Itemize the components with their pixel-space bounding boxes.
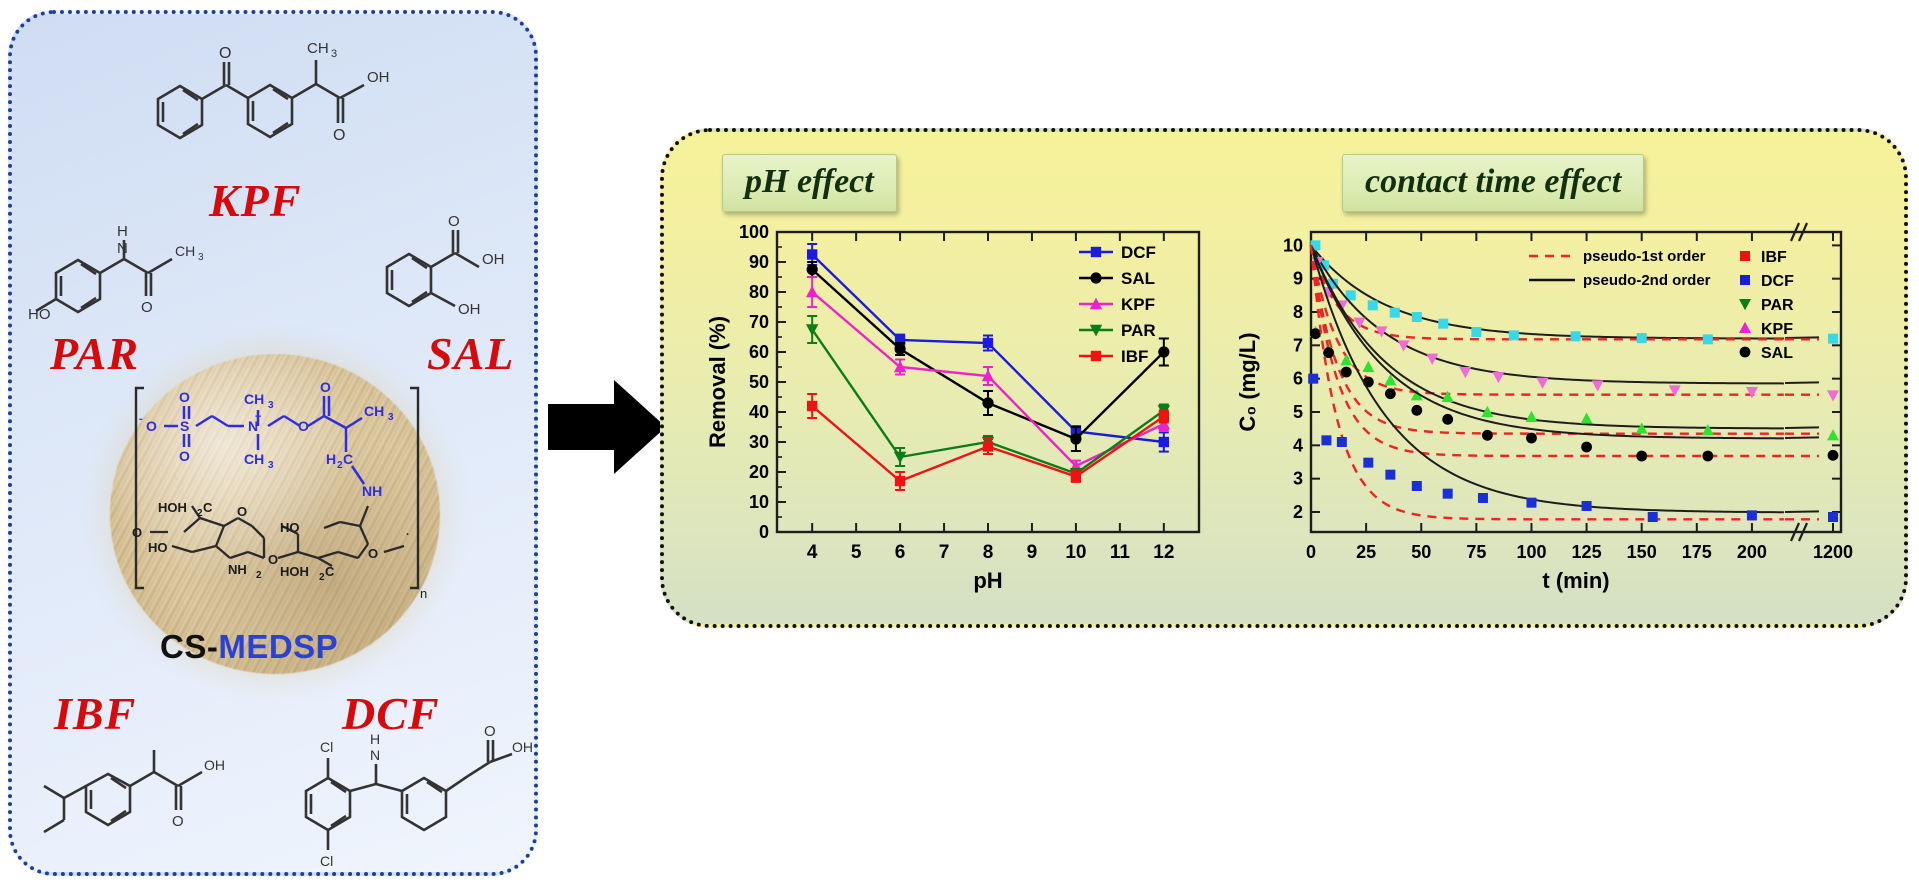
data-point-kpf: [1746, 387, 1758, 398]
data-point-ibf: [1368, 300, 1378, 310]
data-point-ibf: [1571, 331, 1581, 341]
legend-label-kpf: KPF: [1761, 321, 1793, 338]
atom-label: N: [117, 240, 128, 257]
x-tick-label: 11: [1110, 542, 1131, 563]
x-tick-label: 50: [1411, 542, 1431, 562]
ph-effect-badge: pH effect: [722, 154, 897, 212]
legend-label-kpf: KPF: [1121, 295, 1155, 314]
data-point-sal: [807, 264, 818, 275]
atom-label: O: [448, 213, 460, 230]
data-point-kpf: [1459, 367, 1471, 378]
pseudo-1st-order-fit: [1311, 245, 1784, 456]
data-point-dcf: [1747, 510, 1757, 520]
data-point-par: [1362, 361, 1374, 372]
data-point-sal: [1411, 405, 1422, 416]
graphical-abstract: O CH 3 OH O KPF H N CH 3: [0, 0, 1919, 886]
y-tick-label: 90: [749, 252, 769, 272]
data-point-sal: [894, 343, 905, 354]
data-point-kpf: [1827, 390, 1839, 401]
data-point-ibf: [1390, 308, 1400, 318]
atom-label: Cl: [320, 739, 333, 755]
data-point-sal: [1158, 346, 1169, 357]
series-par: [1309, 245, 1839, 440]
atom-label: OH: [512, 739, 533, 755]
atom-label: 2: [256, 570, 262, 581]
legend-label-par: PAR: [1761, 297, 1794, 314]
adsorbent-label-medsp: MEDSP: [218, 628, 338, 665]
pseudo-2nd-order-fit-tail: [1785, 382, 1819, 383]
data-point-ibf: [1159, 411, 1169, 421]
legend-marker-par: [1739, 299, 1751, 310]
legend-marker-sal: [1740, 347, 1751, 358]
legend-label-sal: SAL: [1761, 345, 1793, 362]
series-ibf: [1310, 240, 1838, 344]
results-panel: pH effect contact time effect 0102030405…: [660, 128, 1908, 628]
data-point-kpf: [1492, 372, 1504, 383]
bond-dot: ·: [406, 529, 410, 541]
atom-label: H: [326, 451, 336, 467]
data-point-par: [894, 452, 906, 464]
charge-label: +: [255, 411, 261, 423]
legend-label-dcf: DCF: [1761, 273, 1794, 290]
atom-label: 3: [331, 48, 337, 60]
legend-label-ibf: IBF: [1121, 347, 1148, 366]
atom-label: 3: [268, 460, 274, 471]
atom-label: C: [343, 451, 353, 467]
data-point-sal: [1526, 433, 1537, 444]
y-tick-label: 6: [1293, 369, 1303, 389]
data-point-sal: [1482, 430, 1493, 441]
atom-label: CH: [244, 451, 264, 467]
pseudo-2nd-order-fit-tail: [1785, 427, 1819, 428]
pseudo-2nd-order-fit-tail: [1785, 437, 1819, 438]
molecule-label-ibf: IBF: [54, 687, 136, 740]
x-tick-label: 12: [1153, 542, 1174, 563]
legend-label-dcf: DCF: [1121, 243, 1156, 262]
series-sal: [807, 262, 1170, 451]
atom-label: OH: [458, 301, 481, 318]
atom-label-n: n: [420, 586, 427, 601]
legend-marker-dcf: [1091, 247, 1101, 257]
x-tick-label: 6: [895, 542, 906, 563]
atom-label: HOH: [158, 500, 187, 515]
x-tick-label: 150: [1627, 542, 1657, 562]
x-tick-label: 75: [1466, 542, 1486, 562]
contact-chart-legend: pseudo-1st orderpseudo-2nd orderIBFDCFPA…: [1529, 248, 1794, 362]
data-point-sal: [1442, 414, 1453, 425]
atom-label: O: [484, 723, 496, 740]
pseudo-2nd-order-fit: [1311, 245, 1784, 383]
data-point-dcf: [807, 249, 817, 259]
atom-label: O: [219, 45, 231, 62]
atom-label: S: [180, 418, 189, 434]
y-tick-label: 50: [749, 372, 769, 392]
atom-label: 3: [268, 400, 274, 411]
data-point-par: [1525, 411, 1537, 422]
kpf-structure: O CH 3 OH O: [142, 28, 432, 168]
data-point-par: [1827, 429, 1839, 440]
legend-marker-ibf: [1740, 251, 1750, 261]
atom-label: C: [325, 564, 335, 579]
data-point-sal: [1385, 388, 1396, 399]
y-axis-title: C₀ (mg/L): [1235, 332, 1260, 431]
y-axis-title: Removal (%): [705, 316, 730, 448]
data-point-par: [1702, 424, 1714, 435]
data-point-kpf: [806, 286, 818, 298]
adsorbent-and-pharmaceuticals-panel: O CH 3 OH O KPF H N CH 3: [8, 10, 538, 876]
data-point-dcf: [1582, 501, 1592, 511]
y-tick-label: 60: [749, 342, 769, 362]
data-point-sal: [1636, 451, 1647, 462]
atom-label: HOH: [280, 564, 309, 579]
data-point-dcf: [1385, 470, 1395, 480]
data-point-dcf: [1321, 435, 1331, 445]
data-point-dcf: [1828, 512, 1838, 522]
legend-fit-label: pseudo-2nd order: [1583, 272, 1711, 289]
data-point-dcf: [1308, 374, 1318, 384]
atom-label: 3: [198, 252, 204, 263]
y-tick-label: 100: [739, 222, 769, 242]
data-point-dcf: [1478, 493, 1488, 503]
data-point-sal: [1310, 328, 1321, 339]
atom-label: OH: [367, 69, 390, 86]
y-tick-label: 30: [749, 432, 769, 452]
data-point-par: [1442, 391, 1454, 402]
charge-label: -: [139, 413, 143, 425]
atom-label: O: [268, 552, 278, 567]
data-point-ibf: [807, 401, 817, 411]
atom-label: O: [368, 546, 378, 561]
y-tick-label: 4: [1293, 435, 1303, 455]
ph-effect-chart: 0102030405060708090100456789101112DCFSAL…: [699, 214, 1209, 604]
data-point-dcf: [1648, 512, 1658, 522]
x-tick-label: 9: [1027, 542, 1038, 563]
molecule-label-dcf: DCF: [342, 687, 440, 740]
x-tick-label: 10: [1065, 542, 1086, 563]
data-point-ibf: [1412, 312, 1422, 322]
atom-label: NH: [362, 483, 382, 499]
pseudo-1st-order-fit: [1311, 245, 1784, 339]
atom-label: OH: [204, 757, 225, 773]
legend-marker-kpf: [1739, 322, 1751, 333]
atom-label: H: [117, 223, 128, 240]
data-point-sal: [982, 397, 993, 408]
atom-label: C: [203, 500, 213, 515]
pseudo-2nd-order-fit: [1311, 245, 1784, 428]
y-tick-label: 7: [1293, 335, 1303, 355]
legend-label-sal: SAL: [1121, 269, 1155, 288]
atom-label: O: [320, 379, 331, 395]
data-point-sal: [1070, 433, 1081, 444]
y-tick-label: 0: [759, 522, 769, 542]
y-tick-label: 3: [1293, 469, 1303, 489]
data-point-ibf: [1438, 319, 1448, 329]
ph-chart-legend: DCFSALKPFPARIBF: [1079, 243, 1156, 366]
atom-label: CH: [175, 243, 195, 259]
data-point-dcf: [1159, 437, 1169, 447]
atom-label: O: [141, 299, 153, 316]
data-point-sal: [1581, 442, 1592, 453]
x-tick-label: 175: [1682, 542, 1712, 562]
series-dcf: [807, 244, 1169, 452]
y-tick-label: 20: [749, 462, 769, 482]
atom-label: O: [172, 813, 184, 830]
data-point-sal: [1828, 450, 1839, 461]
data-point-ibf: [1828, 334, 1838, 344]
y-tick-label: 2: [1293, 502, 1303, 522]
atom-label: O: [132, 525, 142, 540]
x-tick-label: 200: [1737, 542, 1767, 562]
atom-label: 3: [388, 412, 394, 423]
legend-marker-ibf: [1091, 351, 1101, 361]
x-tick-label: 125: [1572, 542, 1602, 562]
y-tick-label: 40: [749, 402, 769, 422]
data-point-dcf: [1337, 437, 1347, 447]
contact-time-plot-svg: 234567891002550751001251501752001200pseu…: [1229, 214, 1889, 604]
data-point-kpf: [1536, 378, 1548, 389]
legend-marker-dcf: [1740, 275, 1750, 285]
contact-time-effect-badge: contact time effect: [1342, 154, 1644, 212]
contact-time-chart: 234567891002550751001251501752001200pseu…: [1229, 214, 1889, 604]
y-tick-label: 5: [1293, 402, 1303, 422]
data-point-ibf: [1471, 327, 1481, 337]
atom-label: NH: [228, 562, 247, 577]
atom-label: OH: [482, 251, 505, 268]
axis-break-mark: [1789, 523, 1809, 541]
y-tick-label: 9: [1293, 269, 1303, 289]
pseudo-2nd-order-fit-tail: [1785, 511, 1819, 512]
x-tick-label: 7: [939, 542, 950, 563]
pseudo-2nd-order-fit: [1311, 245, 1784, 338]
data-point-ibf: [895, 476, 905, 486]
legend-label-ibf: IBF: [1761, 249, 1787, 266]
data-point-ibf: [1703, 334, 1713, 344]
x-tick-label: 5: [851, 542, 862, 563]
atom-label: CH: [244, 391, 264, 407]
y-tick-label: 8: [1293, 302, 1303, 322]
data-point-dcf: [1526, 498, 1536, 508]
y-tick-label: 10: [749, 492, 769, 512]
data-point-par: [1636, 422, 1648, 433]
legend-marker-sal: [1090, 272, 1101, 283]
axis-break-mark: [1789, 223, 1809, 241]
par-structure: H N CH 3 O HO: [28, 212, 258, 327]
atom-label: O: [237, 504, 247, 519]
adsorbent-label-cs: CS-: [160, 628, 218, 665]
y-tick-label: 10: [1283, 235, 1303, 255]
data-point-ibf: [1637, 333, 1647, 343]
x-tick-label: 4: [807, 542, 818, 563]
ph-effect-plot-svg: 0102030405060708090100456789101112DCFSAL…: [699, 214, 1209, 604]
data-point-dcf: [983, 338, 993, 348]
y-tick-label: 70: [749, 312, 769, 332]
x-tick-label: 100: [1516, 542, 1546, 562]
atom-label: Cl: [320, 853, 333, 869]
x-tick-label: 8: [983, 542, 994, 563]
data-point-dcf: [1412, 481, 1422, 491]
y-tick-label: 80: [749, 282, 769, 302]
data-point-sal: [1341, 367, 1352, 378]
data-point-ibf: [1071, 471, 1081, 481]
data-point-dcf: [1363, 458, 1373, 468]
atom-label: O: [146, 418, 157, 434]
sal-structure: O OH OH: [367, 202, 537, 327]
atom-label: O: [298, 418, 309, 434]
data-point-par: [1581, 412, 1593, 423]
data-point-sal: [1702, 451, 1713, 462]
x-axis-title: t (min): [1542, 568, 1609, 593]
atom-label: HO: [148, 540, 168, 555]
x-tick-label: 1200: [1813, 542, 1853, 562]
data-point-ibf: [1509, 330, 1519, 340]
process-arrow: [548, 372, 668, 482]
legend-label-par: PAR: [1121, 321, 1156, 340]
x-tick-label: 25: [1356, 542, 1376, 562]
adsorbent-label: CS-MEDSP: [160, 628, 338, 666]
atom-label: HO: [28, 306, 51, 323]
atom-label: CH: [364, 403, 384, 419]
atom-label: O: [179, 389, 190, 405]
data-point-dcf: [1443, 489, 1453, 499]
x-axis-title: pH: [973, 568, 1002, 593]
cs-medsp-polymer-structure: n O -: [112, 366, 442, 626]
legend-fit-label: pseudo-1st order: [1583, 248, 1706, 265]
atom-label: CH: [307, 40, 329, 57]
data-point-ibf: [983, 441, 993, 451]
atom-label: O: [333, 127, 345, 144]
atom-label: N: [370, 747, 380, 763]
x-tick-label: 0: [1306, 542, 1316, 562]
ibf-structure: OH O: [36, 734, 276, 874]
pseudo-1st-order-fit: [1311, 245, 1784, 394]
atom-label: O: [179, 448, 190, 464]
atom-label: HO: [280, 520, 300, 535]
data-point-kpf: [1592, 380, 1604, 391]
